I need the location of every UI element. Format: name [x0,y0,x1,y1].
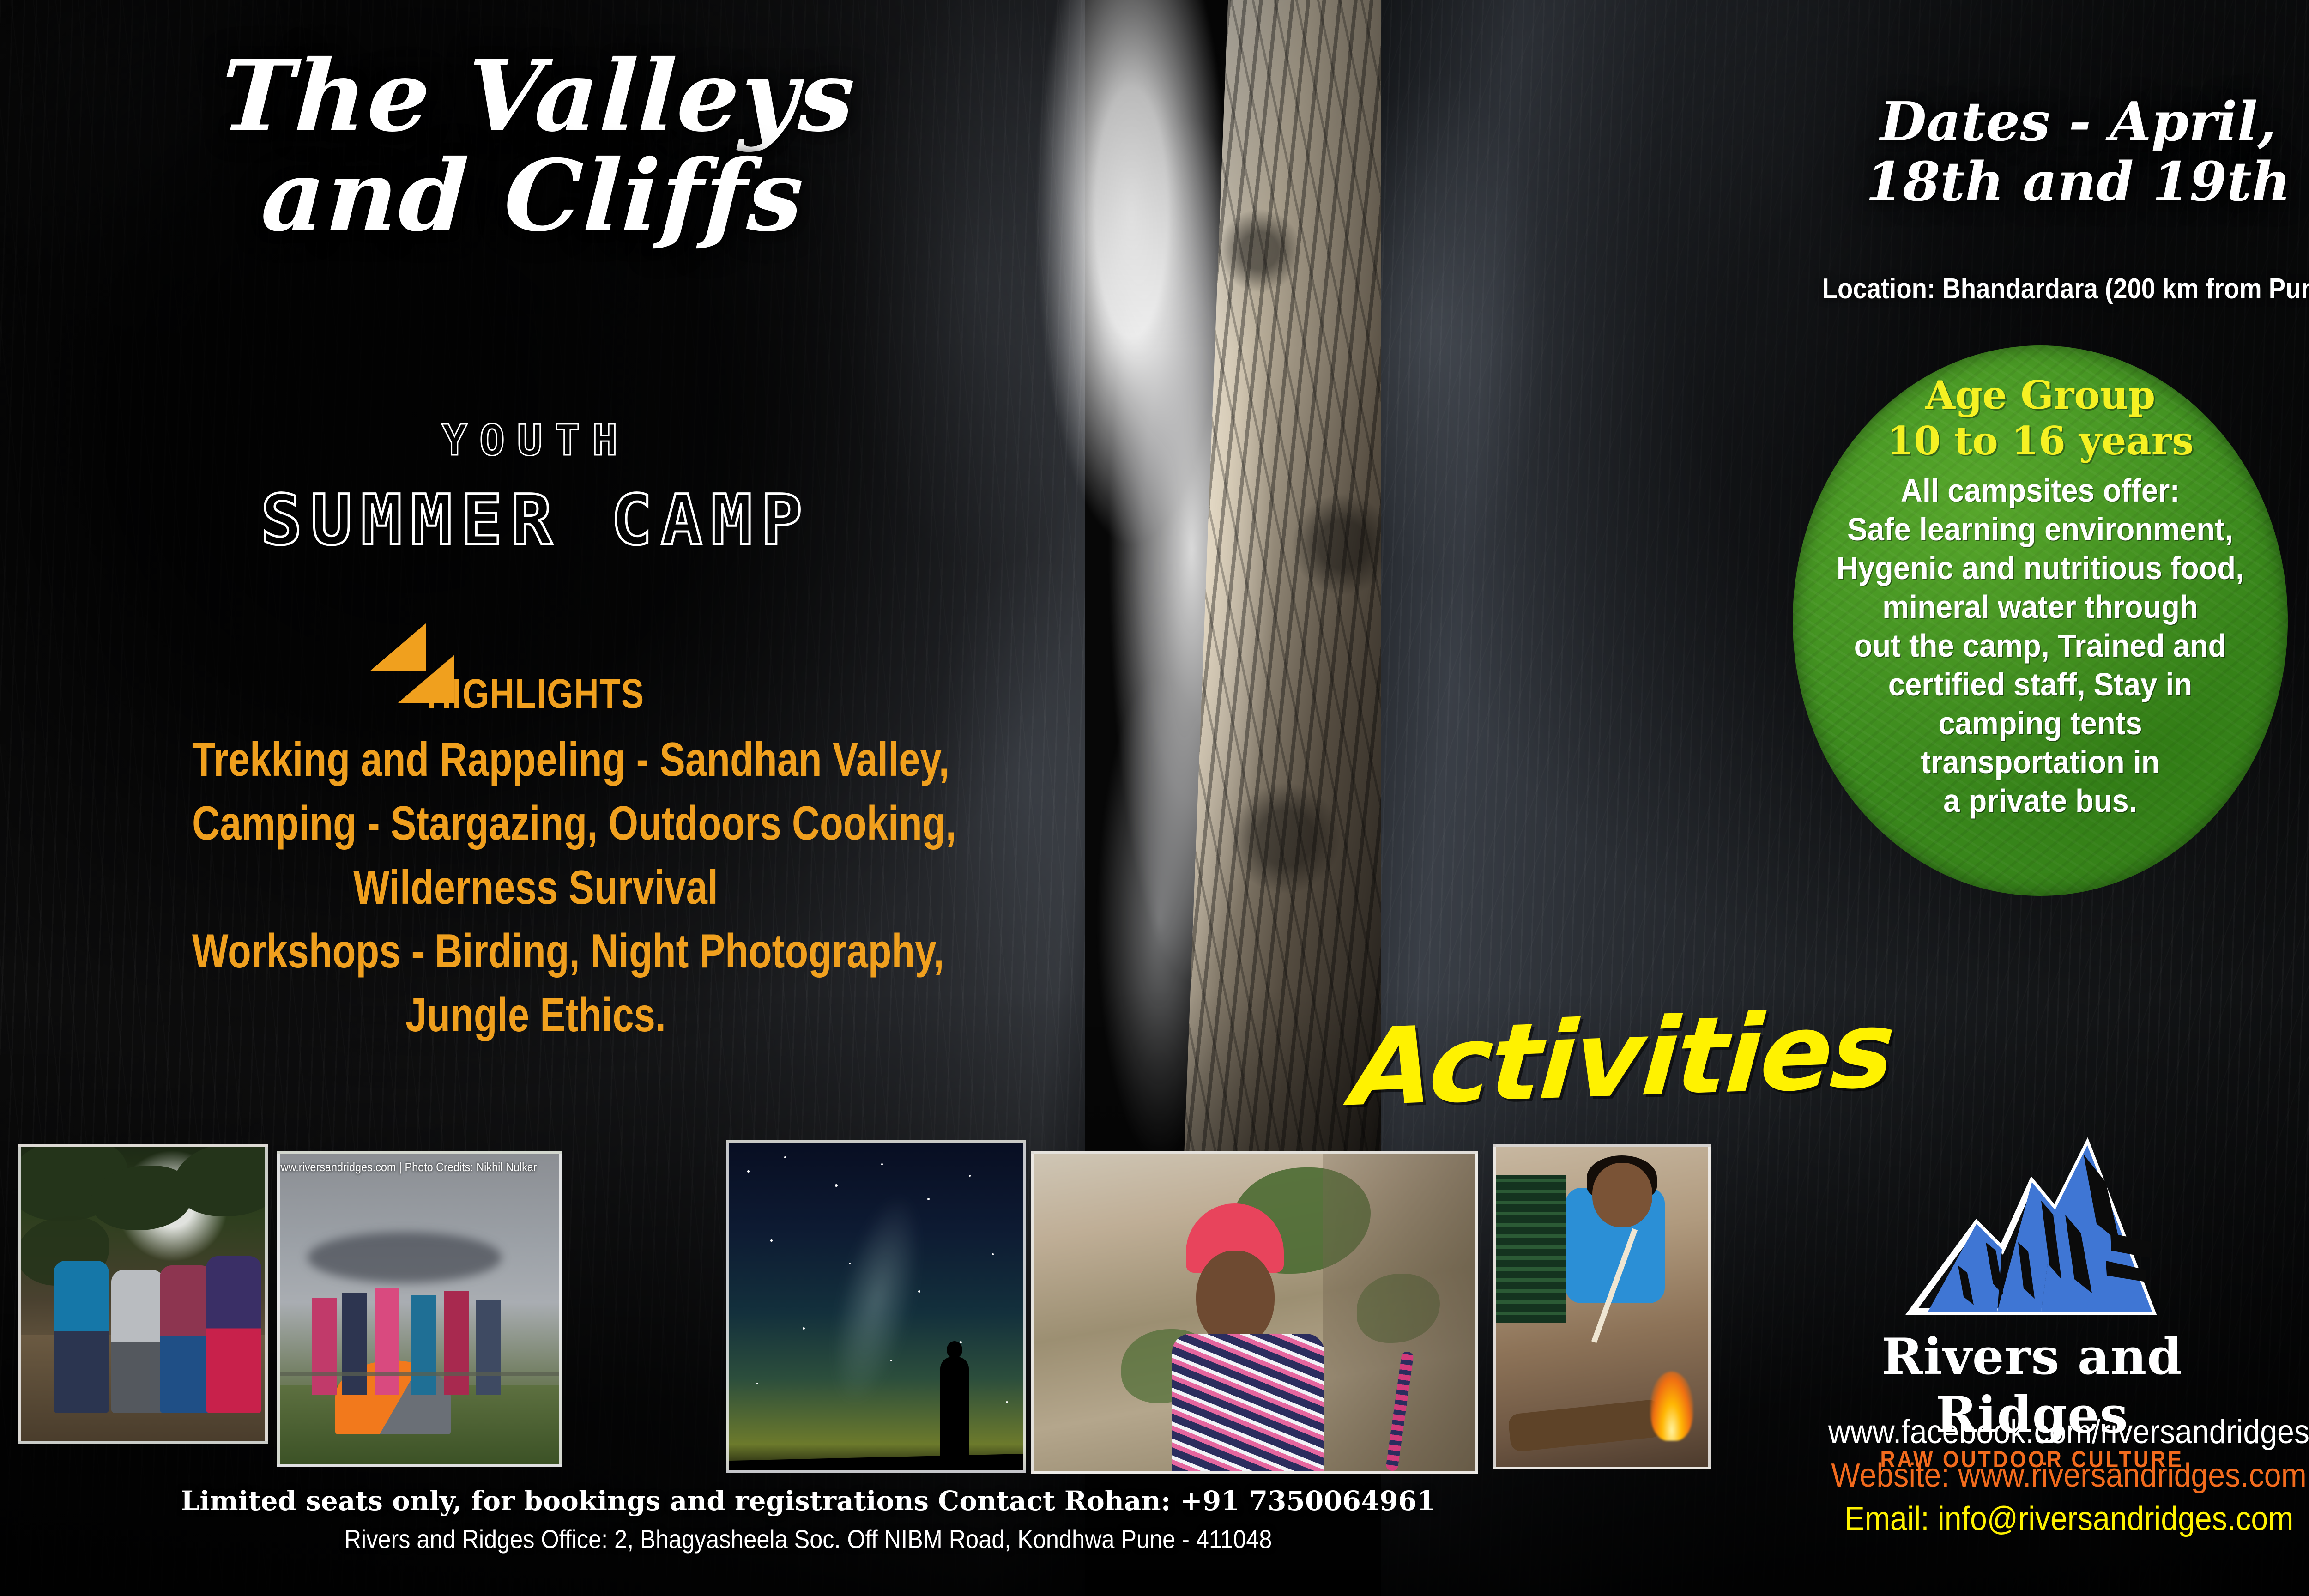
offer-line: out the camp, Trained and [1829,626,2251,665]
highlights-list: Trekking and Rappeling - Sandhan Valley,… [192,728,879,1047]
offer-line: Hygenic and nutritious food, [1829,549,2251,587]
activity-photo-pitching-tent: © www.riversandridges.com | Photo Credit… [277,1151,562,1467]
activity-photo-rappelling [1031,1151,1478,1474]
highlight-item: Camping - Stargazing, Outdoors Cooking, [192,792,879,855]
title-line-2: and Cliffs [133,146,933,246]
photo-credit-watermark: © www.riversandridges.com | Photo Credit… [277,1160,537,1174]
activity-photo-stargazing [726,1140,1026,1473]
age-group-badge: Age Group 10 to 16 years All campsites o… [1793,345,2288,896]
age-group-line-2: 10 to 16 years [1813,418,2267,464]
event-location: Location: Bhandardara (200 km from Pune) [1810,272,2309,305]
booking-contact-line: Limited seats only, for bookings and reg… [0,1485,1616,1517]
age-group-title: Age Group 10 to 16 years [1813,372,2267,464]
activity-photo-fire-making [1493,1144,1711,1469]
brand-contact-block: www.facebook.com/riversandridges Website… [1771,1413,2309,1538]
offer-line: transportation in [1829,743,2251,781]
offer-line: a private bus. [1829,781,2251,820]
website-link[interactable]: Website: www.riversandridges.com [1771,1457,2309,1494]
highlight-item: Wilderness Survival [192,856,879,919]
office-address-line: Rivers and Ridges Office: 2, Bhagyasheel… [81,1524,1535,1554]
subtitle-youth: YOUTH [139,416,933,465]
age-group-line-1: Age Group [1813,372,2267,418]
offer-line: certified staff, Stay in [1829,665,2251,704]
highlight-item: Workshops - Birding, Night Photography, [192,919,879,983]
dates-line-2: 18th and 19th [1801,152,2309,212]
event-dates: Dates - April, 18th and 19th [1801,92,2309,212]
offer-line: camping tents [1829,704,2251,743]
offer-line: mineral water through [1829,587,2251,626]
mountain-logo-icon [1903,1127,2161,1321]
activity-photo-kids-trekking [18,1144,268,1444]
poster-canvas: The Valleys and Cliffs YOUTH SUMMER CAMP… [0,0,2309,1596]
facebook-link[interactable]: www.facebook.com/riversandridges [1771,1413,2309,1451]
subtitle-summer-camp: SUMMER CAMP [106,480,965,561]
page-title: The Valleys and Cliffs [133,46,938,246]
highlight-item: Trekking and Rappeling - Sandhan Valley, [192,728,879,792]
activities-heading: Activities [1348,988,1897,1130]
offer-line: All campsites offer: [1829,471,2251,510]
campsite-offer-list: All campsites offer: Safe learning envir… [1829,471,2251,820]
title-line-1: The Valleys [139,46,938,146]
email-link[interactable]: Email: info@riversandridges.com [1771,1500,2309,1538]
highlight-item: Jungle Ethics. [192,983,879,1047]
dates-line-1: Dates - April, [1801,92,2309,152]
highlights-heading: HIGHLIGHTS [210,671,861,718]
offer-line: Safe learning environment, [1829,510,2251,549]
